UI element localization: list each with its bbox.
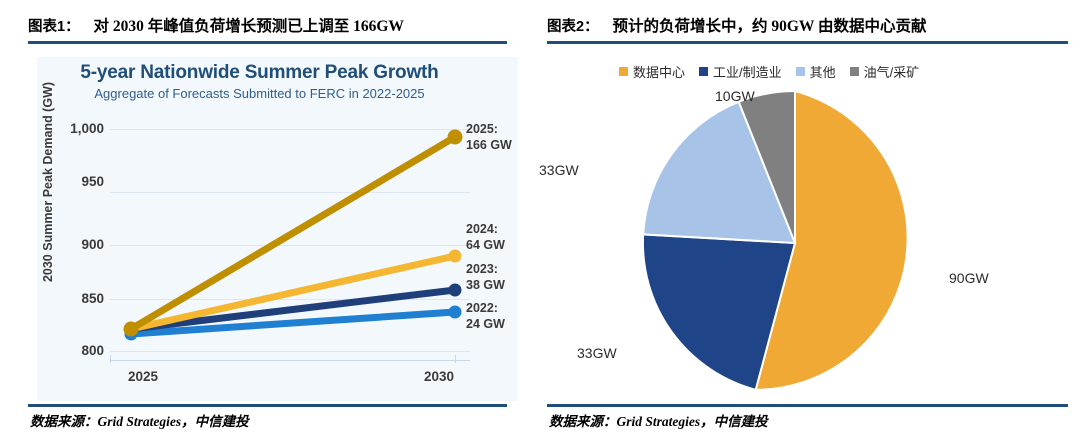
line-chart-svg xyxy=(0,0,519,447)
annotation-2022-value: 24 GW xyxy=(466,317,505,333)
annotation-2025-value: 166 GW xyxy=(466,138,512,154)
pie-data-label-other: 33GW xyxy=(539,162,579,178)
exhibit-2-bottom-rule xyxy=(547,404,1068,407)
exhibit-1-source: 数据来源：Grid Strategies，中信建投 xyxy=(30,410,249,430)
annotation-2023-year: 2023: xyxy=(466,262,505,278)
annotation-2025: 2025: 166 GW xyxy=(466,122,512,153)
exhibit-1-panel: 图表1： 对 2030 年峰值负荷增长预测已上调至 166GW 5-year N… xyxy=(0,0,519,447)
marker-2024-end xyxy=(449,250,462,263)
report-figure-page: 图表1： 对 2030 年峰值负荷增长预测已上调至 166GW 5-year N… xyxy=(0,0,1080,447)
annotation-2023-value: 38 GW xyxy=(466,278,505,294)
annotation-2024-year: 2024: xyxy=(466,222,505,238)
annotation-2025-year: 2025: xyxy=(466,122,512,138)
annotation-2024: 2024: 64 GW xyxy=(466,222,505,253)
annotation-2024-value: 64 GW xyxy=(466,238,505,254)
exhibit-1-bottom-rule xyxy=(28,404,507,407)
annotation-2023: 2023: 38 GW xyxy=(466,262,505,293)
series-line-2025 xyxy=(131,137,455,329)
pie-chart-svg xyxy=(519,0,1080,447)
pie-data-label-oil-gas: 10GW xyxy=(715,88,755,104)
exhibit-2-panel: 图表2： 预计的负荷增长中，约 90GW 由数据中心贡献 数据中心 工业/制造业… xyxy=(519,0,1080,447)
exhibit-2-source: 数据来源：Grid Strategies，中信建投 xyxy=(549,410,768,430)
marker-2025-end xyxy=(448,130,463,145)
marker-2022-end xyxy=(449,306,462,319)
marker-2023-end xyxy=(449,284,462,297)
annotation-2022: 2022: 24 GW xyxy=(466,301,505,332)
pie-data-label-data-center: 90GW xyxy=(949,270,989,286)
annotation-2022-year: 2022: xyxy=(466,301,505,317)
marker-2025-start xyxy=(124,322,139,337)
pie-data-label-industry: 33GW xyxy=(577,345,617,361)
